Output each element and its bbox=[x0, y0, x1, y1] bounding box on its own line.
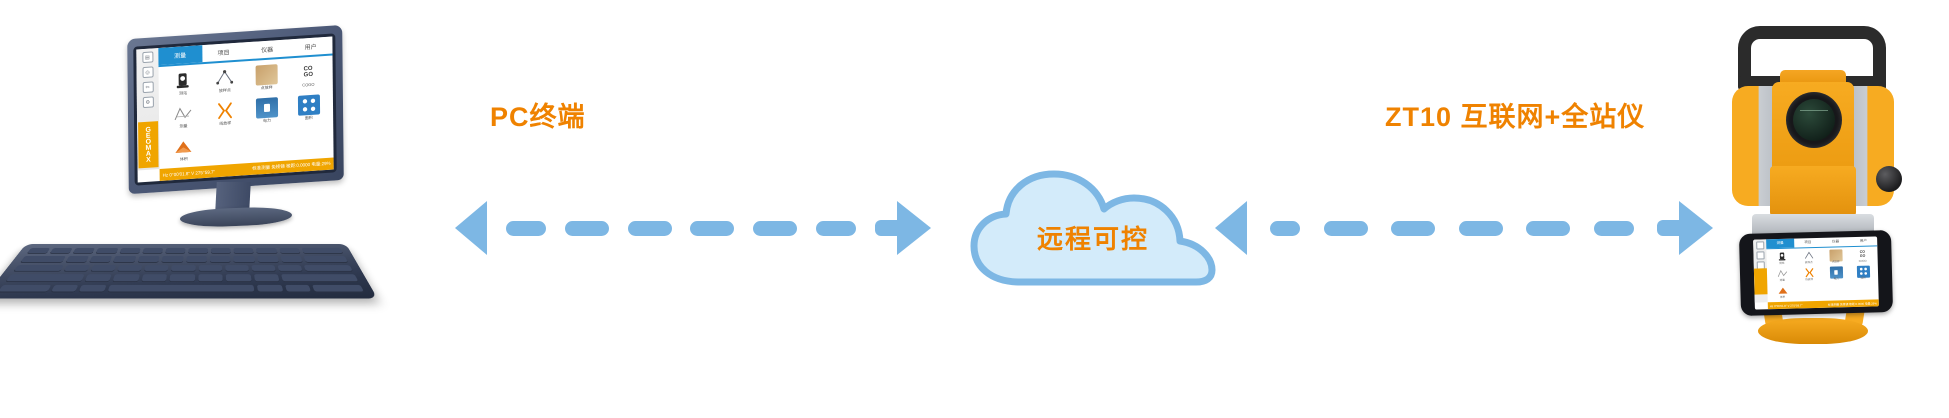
app-tile[interactable]: COGO COGO bbox=[288, 58, 329, 92]
app-tile-empty bbox=[205, 129, 246, 163]
status-mode: 标准测量 免棱镜 棱距:0.0000 电量:29% bbox=[252, 161, 331, 172]
pc-terminal-illustration: ▤ ◎ ✂ ⚙ GEOMAX 测量 项目 仪器 用户 测站 bbox=[20, 22, 370, 312]
connector-cloud-to-station bbox=[1215, 198, 1715, 258]
status-angles: Hz 0°00'01.8" V 275°59.7" bbox=[163, 169, 216, 177]
app-label: 面积 bbox=[1861, 277, 1866, 280]
dash-segment bbox=[1526, 221, 1570, 236]
power-icon bbox=[256, 97, 278, 118]
dash-segment bbox=[628, 221, 672, 236]
phone-screen: 测量 项目 仪器 用户 测站 bbox=[1753, 236, 1879, 309]
cogo-icon: COGO bbox=[297, 62, 319, 83]
app-tile[interactable]: 点放样 bbox=[246, 61, 287, 95]
zt10-device-label: ZT10 互联网+全站仪 bbox=[1385, 104, 1645, 131]
pc-terminal-label: PC终端 bbox=[490, 104, 586, 131]
station-lower-body bbox=[1770, 166, 1856, 218]
lens-reticle bbox=[1800, 110, 1828, 133]
dash-segment bbox=[1594, 221, 1634, 236]
app-label: 测站 bbox=[1779, 263, 1784, 266]
tab-measure[interactable]: 测量 bbox=[1766, 239, 1794, 249]
doc-icon bbox=[1756, 241, 1764, 249]
total-station-illustration: 测量 项目 仪器 用户 测站 bbox=[1700, 18, 1930, 348]
app-tile-empty bbox=[1823, 282, 1849, 299]
app-label: COGO bbox=[1859, 260, 1867, 263]
app-label: 线放样 bbox=[1805, 279, 1813, 282]
tab-project[interactable]: 项目 bbox=[1794, 238, 1822, 248]
app-tile-empty bbox=[1850, 281, 1876, 298]
arrow-left-head-icon bbox=[1215, 201, 1247, 255]
map-icon bbox=[255, 65, 277, 86]
dash-segment bbox=[753, 221, 797, 236]
settings-icon: ⚙ bbox=[142, 96, 153, 108]
arrow-right-head-icon bbox=[875, 201, 933, 255]
tab-instrument[interactable]: 仪器 bbox=[1822, 237, 1850, 247]
tangent-knob[interactable] bbox=[1876, 166, 1902, 192]
survey-icon bbox=[172, 103, 194, 124]
app-tile[interactable]: COGO COGO bbox=[1849, 247, 1875, 264]
app-tile[interactable]: 放样点 bbox=[1795, 249, 1821, 266]
tab-project[interactable]: 项目 bbox=[202, 42, 246, 62]
cloud-label: 远程可控 bbox=[968, 226, 1218, 252]
mounted-phone: 测量 项目 仪器 用户 测站 bbox=[1739, 230, 1893, 316]
software-app-grid: 测站 放样点 点放样 COGO COGO bbox=[161, 56, 332, 168]
target-icon: ◎ bbox=[142, 66, 153, 78]
app-label: 线放样 bbox=[219, 121, 231, 126]
target-icon bbox=[1756, 251, 1764, 259]
line-stakeout-icon bbox=[214, 100, 236, 121]
dash-segment bbox=[1391, 221, 1435, 236]
app-label: 放样点 bbox=[219, 89, 231, 94]
app-label: 体积 bbox=[180, 157, 188, 162]
app-label: 体积 bbox=[1780, 297, 1785, 300]
app-label: 点放样 bbox=[261, 86, 273, 91]
doc-icon: ▤ bbox=[142, 51, 153, 63]
status-mode: 标准测量 免棱镜 棱距:0.0000 电量:29% bbox=[1828, 301, 1877, 306]
app-label: 电力 bbox=[263, 119, 271, 124]
app-label: 面积 bbox=[305, 116, 313, 121]
app-tile[interactable]: 面积 bbox=[1850, 264, 1876, 281]
phone-app-grid: 测站 放样点 点放样 COGO COGO bbox=[1767, 246, 1877, 301]
phone-status-bar: Hz 0°00'01.8" V 275°59.7" 标准测量 免棱镜 棱距:0.… bbox=[1768, 299, 1879, 309]
arrow-left-head-icon bbox=[455, 201, 487, 255]
total-station-icon bbox=[172, 70, 194, 91]
dash-segment bbox=[1324, 221, 1368, 236]
app-tile[interactable]: 测站 bbox=[163, 66, 204, 100]
app-tile[interactable]: 电力 bbox=[1823, 265, 1849, 282]
tab-user[interactable]: 用户 bbox=[1849, 236, 1877, 246]
app-label: 放样点 bbox=[1805, 262, 1813, 265]
app-tile-empty bbox=[1796, 283, 1822, 300]
geomax-logo: GEOMAX bbox=[138, 121, 158, 168]
app-label: 点放样 bbox=[1832, 261, 1840, 264]
geomax-logo bbox=[1754, 268, 1768, 294]
app-tile[interactable]: 放样点 bbox=[204, 63, 245, 97]
app-label: 电力 bbox=[1834, 278, 1839, 281]
app-tile-empty bbox=[288, 123, 329, 157]
app-tile[interactable]: 体积 bbox=[1769, 284, 1795, 301]
app-tile[interactable]: 面积 bbox=[288, 90, 329, 124]
app-tile[interactable]: 线放样 bbox=[205, 96, 246, 130]
volume-icon bbox=[173, 135, 195, 156]
keyboard bbox=[0, 244, 378, 298]
status-angles: Hz 0°00'01.8" V 275°59.7" bbox=[1770, 303, 1803, 308]
app-label: 测量 bbox=[179, 124, 187, 129]
points-icon bbox=[298, 94, 320, 115]
app-tile[interactable]: 测量 bbox=[163, 99, 204, 133]
app-tile[interactable]: 点放样 bbox=[1822, 248, 1848, 265]
app-label: 测站 bbox=[179, 92, 187, 97]
connector-pc-to-cloud bbox=[455, 198, 933, 258]
dash-segment bbox=[1270, 221, 1300, 236]
stakeout-icon bbox=[214, 67, 236, 88]
app-tile[interactable]: 体积 bbox=[163, 131, 204, 165]
monitor-screen: ▤ ◎ ✂ ⚙ GEOMAX 测量 项目 仪器 用户 测站 bbox=[136, 37, 333, 183]
tab-measure[interactable]: 测量 bbox=[158, 45, 202, 65]
monitor-base bbox=[180, 206, 292, 228]
station-base-plate bbox=[1758, 318, 1868, 344]
dash-segment bbox=[565, 221, 609, 236]
tab-user[interactable]: 用户 bbox=[289, 37, 333, 57]
diagram-canvas: ▤ ◎ ✂ ⚙ GEOMAX 测量 项目 仪器 用户 测站 bbox=[0, 0, 1949, 418]
app-tile-empty bbox=[247, 126, 288, 160]
dash-segment bbox=[1459, 221, 1503, 236]
dash-segment bbox=[690, 221, 734, 236]
tools-icon: ✂ bbox=[142, 81, 153, 93]
dash-segment bbox=[816, 221, 856, 236]
app-tile[interactable]: 测站 bbox=[1768, 250, 1794, 267]
dash-segment bbox=[506, 221, 546, 236]
app-label: COGO bbox=[302, 83, 314, 88]
tab-instrument[interactable]: 仪器 bbox=[245, 39, 289, 59]
cloud-node: 远程可控 bbox=[968, 170, 1218, 286]
app-tile[interactable]: 线放样 bbox=[1796, 266, 1822, 283]
app-tile[interactable]: 电力 bbox=[246, 93, 287, 127]
app-tile[interactable]: 测量 bbox=[1769, 267, 1795, 284]
app-label: 测量 bbox=[1780, 280, 1785, 283]
